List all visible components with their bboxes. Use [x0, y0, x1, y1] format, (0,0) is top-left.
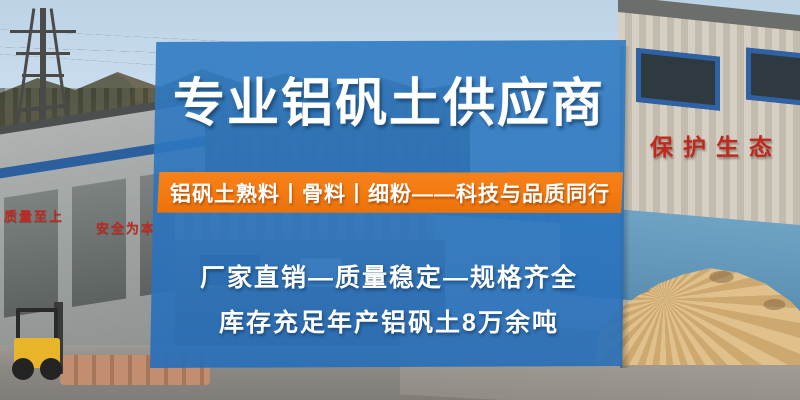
subline-2: 库存充足年产铝矾土8万余吨	[152, 303, 626, 339]
ribbon-tagline: 铝矾土熟料丨骨料丨细粉——科技与品质同行	[157, 178, 623, 208]
headline-title: 专业铝矾土供应商	[152, 78, 626, 130]
overlay-layer: 专业铝矾土供应商 铝矾土熟料丨骨料丨细粉——科技与品质同行 厂家直销—质量稳定—…	[0, 0, 800, 400]
promotional-banner: 保护生态 质量至上 安全为本 专业铝矾土供应商	[0, 0, 800, 400]
subline-1: 厂家直销—质量稳定—规格齐全	[152, 258, 626, 294]
